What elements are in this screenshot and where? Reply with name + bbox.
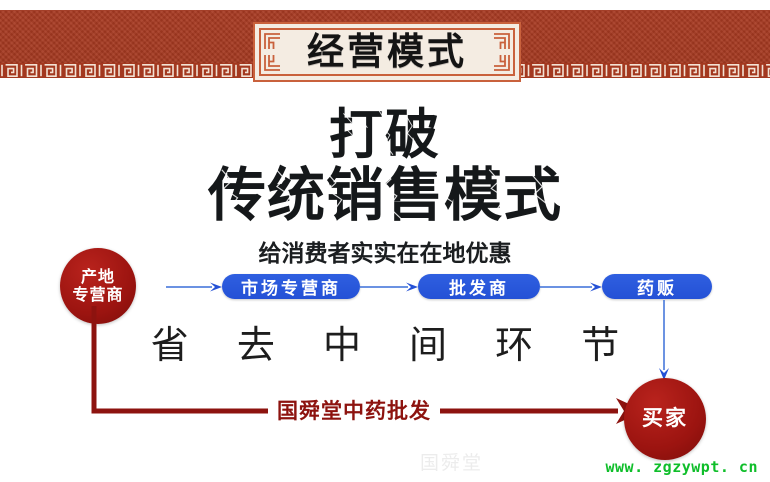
headline-line-1: 打破	[0, 108, 770, 162]
headline-line-1-text: 打破	[329, 103, 441, 166]
site-url-watermark: www. zgzywpt. cn	[606, 458, 759, 476]
flow-node-origin-label-line1: 产地	[81, 268, 115, 286]
flow-node-drug-peddler-label: 药贩	[637, 274, 677, 299]
flow-node-market-dealer[interactable]: 市场专营商	[222, 274, 360, 299]
arrow-right-icon	[166, 281, 222, 293]
arrow-right-icon	[540, 281, 602, 293]
direct-channel-label: 国舜堂中药批发	[268, 399, 440, 423]
headline-line-2-text: 传统销售模式	[208, 161, 562, 229]
flow-node-wholesaler-label: 批发商	[449, 274, 509, 299]
page-title: 经营模式	[255, 24, 519, 80]
page-title-frame: 经营模式	[253, 22, 521, 82]
flow-node-buyer[interactable]: 买家	[624, 378, 706, 460]
arrow-right-icon	[360, 281, 418, 293]
flow-node-buyer-label: 买家	[642, 407, 688, 430]
flow-node-drug-peddler[interactable]: 药贩	[602, 274, 712, 299]
poster-canvas: 经营模式 打破 传统销售模式	[0, 0, 770, 482]
background-watermark: 国舜堂	[420, 448, 483, 475]
flow-node-wholesaler[interactable]: 批发商	[418, 274, 540, 299]
headline-line-2: 传统销售模式	[0, 166, 770, 224]
flow-node-market-dealer-label: 市场专营商	[241, 274, 341, 299]
